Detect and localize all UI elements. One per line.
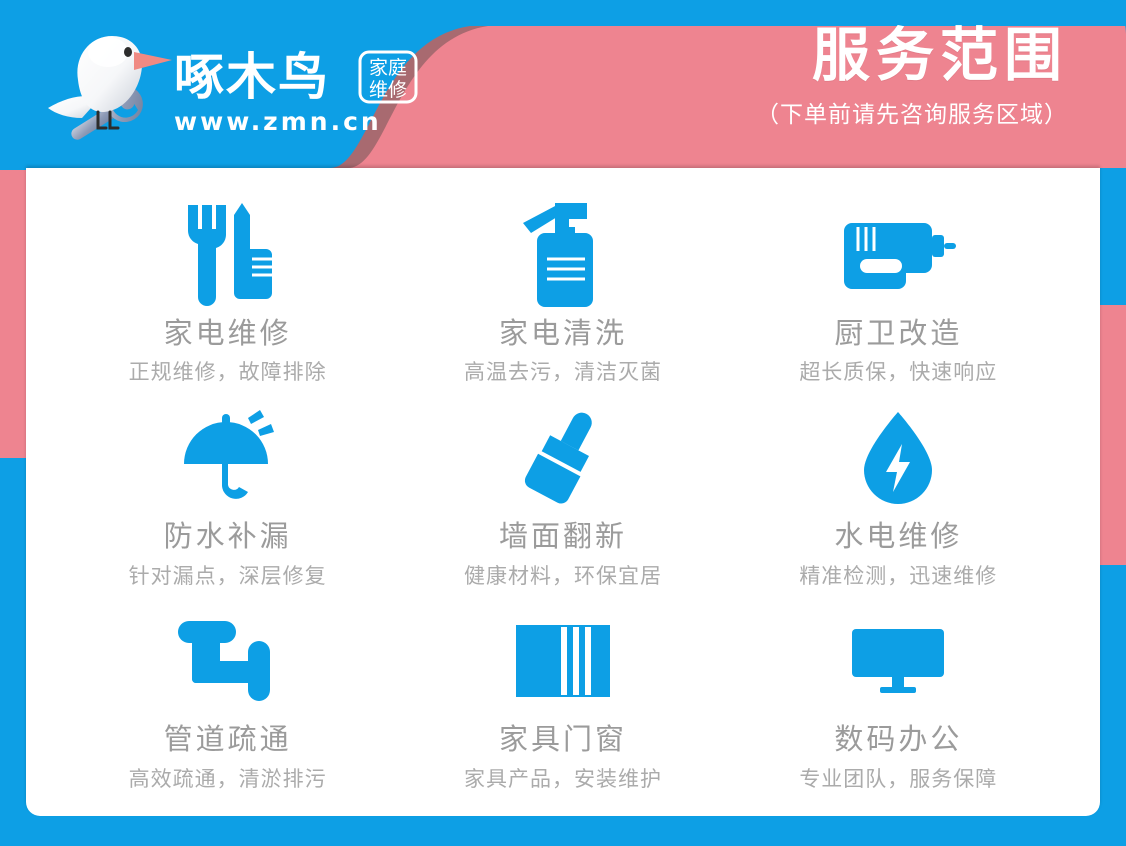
badge-line1: 家庭 xyxy=(369,57,407,79)
right-accent-strip xyxy=(1100,305,1126,565)
wrench-screwdriver-icon xyxy=(176,196,280,314)
brand-name-wordmark: 啄木鸟 xyxy=(174,49,352,105)
service-desc: 精准检测，迅速维修 xyxy=(799,564,997,589)
service-item-kitchen-bath-renovation[interactable]: 厨卫改造 超长质保，快速响应 xyxy=(731,196,1066,386)
service-title: 水电维修 xyxy=(834,521,962,554)
page-subtitle: （下单前请先咨询服务区域） xyxy=(756,95,1068,129)
service-title: 墙面翻新 xyxy=(499,521,627,554)
service-desc: 家具产品，安装维护 xyxy=(464,767,662,792)
service-item-furniture-doors-windows[interactable]: 家具门窗 家具产品，安装维护 xyxy=(395,602,730,792)
service-row: 管道疏通 高效疏通，清淤排污 家具门窗 家具产品，安装维护 xyxy=(60,602,1066,792)
page-title: 服务范围 xyxy=(756,26,1068,87)
service-desc: 健康材料，环保宜居 xyxy=(464,564,662,589)
service-item-wall-renovation[interactable]: 墙面翻新 健康材料，环保宜居 xyxy=(395,399,730,589)
service-desc: 高温去污，清洁灭菌 xyxy=(464,360,662,385)
brand-name-text: 啄木鸟 xyxy=(174,49,330,105)
service-grid-card: 家电维修 正规维修，故障排除 xyxy=(26,168,1100,816)
page-header: 啄木鸟 家庭 维修 www.zmn.cn 服务范围 （下单前请先咨询服务区域） xyxy=(0,0,1126,168)
paint-brush-icon xyxy=(511,399,615,517)
pipe-icon xyxy=(174,602,282,720)
header-title-block: 服务范围 （下单前请先咨询服务区域） xyxy=(756,26,1068,129)
service-item-pipe-dredging[interactable]: 管道疏通 高效疏通，清淤排污 xyxy=(60,602,395,792)
spray-bottle-icon xyxy=(521,196,605,314)
service-title: 家电维修 xyxy=(164,318,292,351)
service-title: 家电清洗 xyxy=(499,318,627,351)
brand-url[interactable]: www.zmn.cn xyxy=(174,107,418,136)
water-drop-bolt-icon xyxy=(860,399,936,517)
service-desc: 高效疏通，清淤排污 xyxy=(129,767,327,792)
service-title: 家具门窗 xyxy=(499,724,627,757)
service-item-plumbing-electrical[interactable]: 水电维修 精准检测，迅速维修 xyxy=(731,399,1066,589)
window-panel-icon xyxy=(516,602,610,720)
electric-drill-icon xyxy=(840,196,956,314)
umbrella-icon xyxy=(180,399,276,517)
service-title: 管道疏通 xyxy=(164,724,292,757)
brand-badge-icon: 家庭 维修 xyxy=(358,49,418,105)
left-accent-strip xyxy=(0,170,26,458)
service-desc: 超长质保，快速响应 xyxy=(799,360,997,385)
brand-logo[interactable]: 啄木鸟 家庭 维修 www.zmn.cn xyxy=(42,22,418,142)
service-row: 家电维修 正规维修，故障排除 xyxy=(60,196,1066,386)
service-title: 厨卫改造 xyxy=(834,318,962,351)
service-title: 数码办公 xyxy=(834,724,962,757)
service-desc: 正规维修，故障排除 xyxy=(129,360,327,385)
service-item-appliance-repair[interactable]: 家电维修 正规维修，故障排除 xyxy=(60,196,395,386)
service-item-appliance-cleaning[interactable]: 家电清洗 高温去污，清洁灭菌 xyxy=(395,196,730,386)
service-title: 防水补漏 xyxy=(164,521,292,554)
badge-line2: 维修 xyxy=(369,79,407,101)
monitor-icon xyxy=(852,602,944,720)
service-item-digital-office[interactable]: 数码办公 专业团队，服务保障 xyxy=(731,602,1066,792)
service-row: 防水补漏 针对漏点，深层修复 墙面翻新 健康材料，环保宜居 xyxy=(60,399,1066,589)
service-desc: 针对漏点，深层修复 xyxy=(129,564,327,589)
service-desc: 专业团队，服务保障 xyxy=(799,767,997,792)
service-item-waterproofing[interactable]: 防水补漏 针对漏点，深层修复 xyxy=(60,399,395,589)
woodpecker-mascot-icon xyxy=(42,22,182,142)
